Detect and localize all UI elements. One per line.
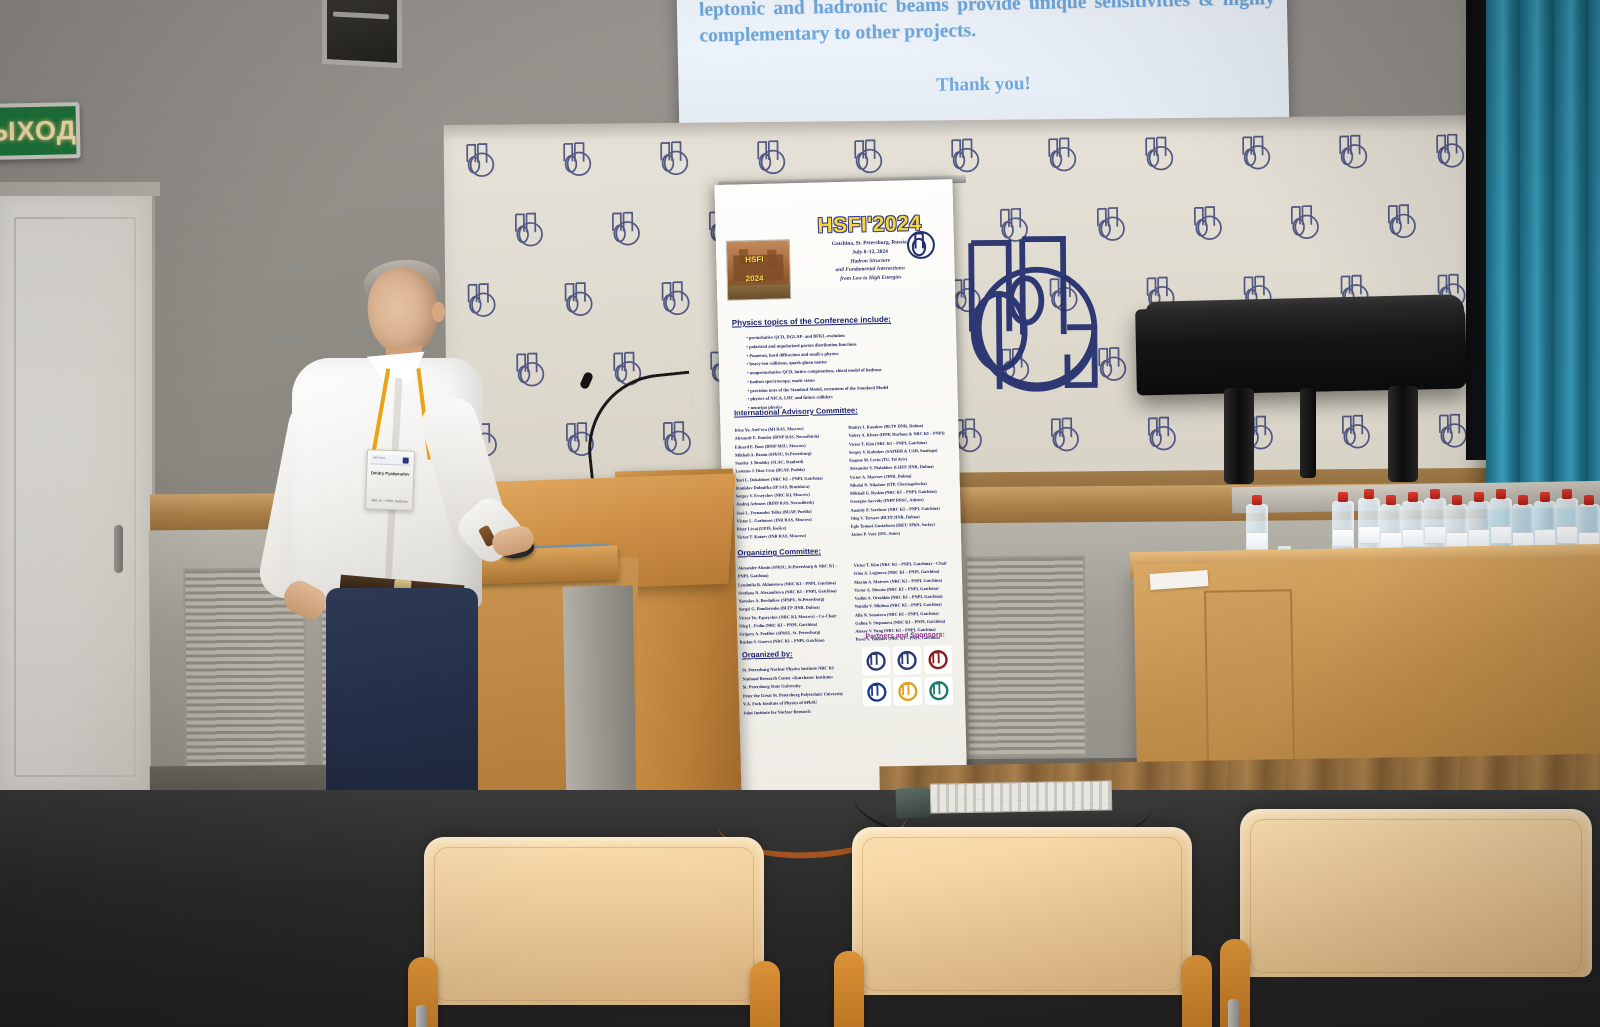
exit-sign-label: ЫХОД [0, 115, 77, 148]
backdrop-logo-icon [1335, 132, 1375, 172]
jinr-logo [893, 646, 922, 675]
door-frame [0, 182, 160, 196]
door-panel [14, 217, 136, 777]
grand-piano [1135, 303, 1467, 396]
conference-hall-photo: ЫХОД leptonic and hadronic beams provide… [0, 0, 1600, 1027]
chair-leg [416, 1005, 427, 1027]
sponsor-logo-row [862, 645, 964, 717]
conference-badge: HSFI'2024 Dmitry Pyatiprudov NRC KI – PN… [365, 449, 415, 511]
piano-leg [1224, 388, 1254, 484]
side-door[interactable] [0, 195, 155, 795]
topics-heading: Physics topics of the Conference include… [732, 315, 891, 328]
chair-armrest [1182, 955, 1212, 1027]
badge-header: HSFI'2024 [371, 454, 411, 465]
audience-chair[interactable] [852, 827, 1192, 1027]
speaker-ear [432, 302, 445, 322]
backdrop-logo-icon [1044, 135, 1084, 175]
hsfi-banner: HSFI 2024 HSFI'2024 Gatchina, St. Peters… [714, 179, 967, 807]
castle-logo-line1: HSFI [745, 255, 763, 264]
backdrop-logo-icon [656, 139, 696, 179]
backdrop-logo-icon [607, 209, 647, 249]
slide-paragraph: leptonic and hadronic beams provide uniq… [699, 0, 1276, 50]
backdrop-logo-icon [1141, 134, 1181, 174]
chair-seam [1250, 819, 1582, 973]
vent-bar [333, 11, 389, 19]
backdrop-logo-icon [1337, 412, 1377, 452]
stage-curtain [1486, 0, 1600, 550]
pnpi-emblem-icon [904, 228, 939, 263]
castle-logo-line2: 2024 [746, 274, 764, 283]
badge-header-text: HSFI'2024 [373, 456, 385, 459]
slide-thank-you: Thank you! [678, 68, 1288, 102]
russia-eagle-logo [924, 645, 953, 674]
oc-left-column: Alexander Afonin (SPbSU, St.Petersburg &… [738, 562, 850, 647]
backdrop-logo-icon [850, 137, 890, 177]
organizer-item: Joint Institute for Nuclear Research [743, 706, 863, 718]
badge-affiliation: NRC KI – PNPI, Gatchina [366, 498, 412, 504]
pnpi-logo [862, 647, 891, 676]
badge-logo-icon [403, 457, 409, 463]
iac-right-column: Dmitry I. Kazakov (BLTP JINR, Dubna)Vale… [848, 421, 957, 539]
backdrop-logo-icon [1143, 414, 1183, 454]
backdrop-logo-icon [1046, 415, 1086, 455]
backdrop-logo-icon [1238, 133, 1278, 173]
backdrop-logo-icon [462, 141, 502, 181]
bird-logo [925, 676, 954, 705]
chair-seam [434, 847, 754, 1001]
chair-seam [862, 837, 1182, 991]
badge-name: Dmitry Pyatiprudov [367, 470, 413, 478]
ceiling-vent [322, 0, 402, 68]
oc-member: Ruslan S. Guseva (NRC KI – PNPI, Gatchin… [740, 636, 850, 647]
stage-vent-grill [965, 555, 1087, 756]
audience-chair[interactable] [424, 837, 764, 1027]
chair-armrest [834, 951, 864, 1027]
slide-content: leptonic and hadronic beams provide uniq… [673, 0, 1290, 134]
iac-member: James P. Vary (ISU, Ames) [851, 528, 957, 539]
backdrop-logo-icon [559, 140, 599, 180]
chair-backrest [1240, 809, 1592, 977]
door-handle[interactable] [114, 525, 123, 573]
backdrop-logo-icon [510, 210, 550, 250]
iac-left-column: Irina Ya. Aref'eva (MI RAS, Moscow)Alexa… [734, 424, 845, 542]
backdrop-logo-icon [753, 138, 793, 178]
backdrop-logo-icon [657, 279, 697, 319]
piano-leg [1388, 386, 1418, 482]
iac-member: Victor T. Kataev (INR RAS, Moscow) [737, 531, 845, 542]
rsf-logo [863, 678, 892, 707]
chair-backrest [424, 837, 764, 1005]
audience-chair[interactable] [1240, 809, 1592, 1027]
castle-photo-logo: HSFI 2024 [726, 239, 791, 301]
backdrop-logo-icon [560, 280, 600, 320]
topics-list: • perturbative QCD, DGLAP- and BFKL-evol… [746, 329, 948, 413]
colorful-fish-logo [894, 677, 923, 706]
backdrop-logo-icon [947, 136, 987, 176]
iac-heading: International Advisory Committee: [734, 406, 858, 418]
backdrop-logo-icon [1189, 204, 1229, 244]
organized-by-list: St. Petersburg Nuclear Physics Institute… [742, 664, 863, 718]
chair-backrest [852, 827, 1192, 995]
oc-heading: Organizing Committee: [737, 547, 821, 558]
exit-sign: ЫХОД [0, 102, 81, 160]
backdrop-logo-icon [1286, 203, 1326, 243]
pnpi-logo-large [947, 227, 1118, 400]
backdrop-logo-icon [1383, 202, 1423, 242]
organized-by-heading: Organized by: [742, 649, 793, 659]
chair-armrest [750, 961, 780, 1027]
piano-pedal-lyre [1300, 388, 1316, 478]
chair-leg [1228, 999, 1239, 1027]
